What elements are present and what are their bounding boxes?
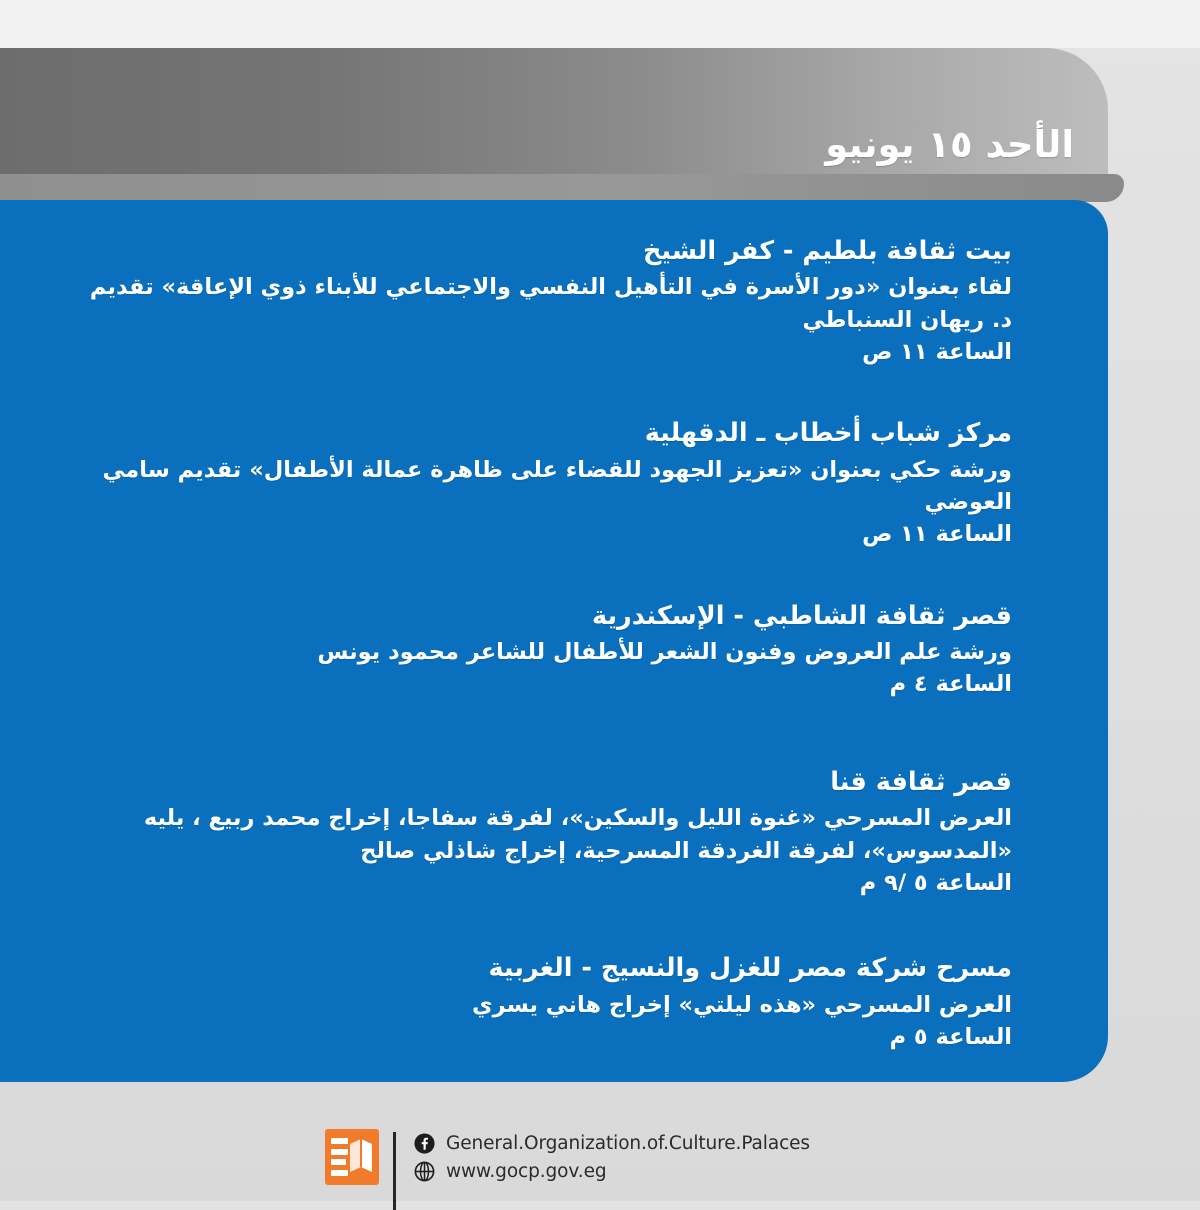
event-venue: بيت ثقافة بلطيم - كفر الشيخ: [86, 232, 1012, 270]
event-item: بيت ثقافة بلطيم - كفر الشيخ لقاء بعنوان …: [86, 232, 1012, 368]
footer-links: General.Organization.of.Culture.Palaces …: [414, 1133, 810, 1182]
event-venue: مسرح شركة مصر للغزل والنسيج - الغربية: [86, 949, 1012, 987]
event-venue: قصر ثقافة الشاطبي - الإسكندرية: [86, 597, 1012, 635]
event-description: ورشة حكي بعنوان «تعزيز الجهود للقضاء على…: [86, 454, 1012, 519]
event-description: العرض المسرحي «غنوة الليل والسكين»، لفرق…: [86, 802, 1012, 867]
events-panel: بيت ثقافة بلطيم - كفر الشيخ لقاء بعنوان …: [0, 200, 1108, 1082]
footer: General.Organization.of.Culture.Palaces …: [0, 1082, 1200, 1201]
event-description: العرض المسرحي «هذه ليلتي» إخراج هاني يسر…: [86, 989, 1012, 1021]
event-item: مسرح شركة مصر للغزل والنسيج - الغربية ال…: [86, 949, 1012, 1053]
event-time: الساعة ١١ ص: [86, 336, 1012, 368]
events-list: بيت ثقافة بلطيم - كفر الشيخ لقاء بعنوان …: [0, 200, 1108, 1053]
gocp-logo-icon: [325, 1129, 379, 1185]
event-time: الساعة ٥ م: [86, 1021, 1012, 1053]
poster-canvas: الأحد ١٥ يونيو بيت ثقافة بلطيم - كفر الش…: [0, 0, 1200, 1201]
facebook-link[interactable]: General.Organization.of.Culture.Palaces: [414, 1133, 810, 1154]
header-accent-band: [0, 174, 1124, 202]
event-item: مركز شباب أخطاب ـ الدقهلية ورشة حكي بعنو…: [86, 414, 1012, 550]
page-title: الأحد ١٥ يونيو: [825, 122, 1074, 168]
logo-book-icon: [348, 1136, 374, 1178]
event-venue: مركز شباب أخطاب ـ الدقهلية: [86, 414, 1012, 452]
event-description: ورشة علم العروض وفنون الشعر للأطفال للشا…: [86, 636, 1012, 668]
event-venue: قصر ثقافة قنا: [86, 763, 1012, 801]
website-link[interactable]: www.gocp.gov.eg: [414, 1161, 810, 1182]
event-description: لقاء بعنوان «دور الأسرة في التأهيل النفس…: [86, 271, 1012, 336]
event-item: قصر ثقافة الشاطبي - الإسكندرية ورشة علم …: [86, 597, 1012, 701]
header-bar: الأحد ١٥ يونيو: [0, 48, 1108, 174]
facebook-handle-text: General.Organization.of.Culture.Palaces: [446, 1133, 810, 1154]
event-time: الساعة ٤ م: [86, 668, 1012, 700]
top-margin-strip: [0, 0, 1200, 48]
globe-icon: [414, 1161, 435, 1182]
website-url-text: www.gocp.gov.eg: [446, 1161, 607, 1182]
event-item: قصر ثقافة قنا العرض المسرحي «غنوة الليل …: [86, 763, 1012, 899]
footer-content: General.Organization.of.Culture.Palaces …: [325, 1118, 810, 1196]
event-time: الساعة ١١ ص: [86, 518, 1012, 550]
footer-divider: [393, 1132, 396, 1210]
logo-arabic-lines-icon: [331, 1138, 348, 1176]
event-time: الساعة ٥ /٩ م: [86, 867, 1012, 899]
facebook-icon: [414, 1133, 435, 1154]
